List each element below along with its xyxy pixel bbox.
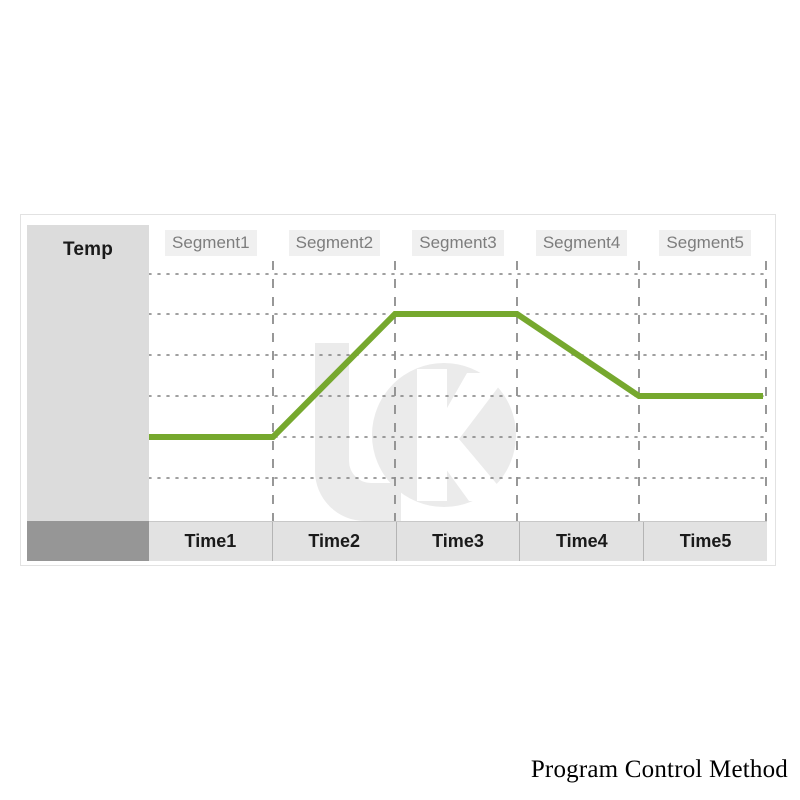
time-cell-2: Time2	[273, 522, 397, 561]
segment-dividers	[273, 261, 766, 521]
temp-panel-footer-block	[27, 521, 149, 561]
chart-canvas	[149, 225, 767, 521]
segment-cell-3: Segment3	[396, 225, 520, 261]
plot-area	[149, 225, 767, 521]
segment-badge-3: Segment3	[412, 230, 504, 257]
temp-axis-panel: Temp	[27, 225, 149, 521]
time-footer-row: Time1 Time2 Time3 Time4 Time5	[149, 521, 767, 561]
figure-caption: Program Control Method	[0, 756, 788, 784]
segment-header-row: Segment1 Segment2 Segment3 Segment4 Segm…	[149, 225, 767, 261]
time-cell-1: Time1	[149, 522, 273, 561]
segment-cell-2: Segment2	[273, 225, 397, 261]
temp-axis-label: Temp	[27, 239, 149, 261]
segment-cell-5: Segment5	[643, 225, 767, 261]
temperature-profile-line	[149, 314, 763, 437]
horizontal-gridlines	[149, 274, 767, 478]
segment-cell-1: Segment1	[149, 225, 273, 261]
segment-badge-5: Segment5	[659, 230, 751, 257]
time-cell-5: Time5	[644, 522, 767, 561]
segment-badge-2: Segment2	[289, 230, 381, 257]
segment-badge-1: Segment1	[165, 230, 257, 257]
segment-badge-4: Segment4	[536, 230, 628, 257]
time-cell-3: Time3	[397, 522, 521, 561]
segment-cell-4: Segment4	[520, 225, 644, 261]
time-cell-4: Time4	[520, 522, 644, 561]
program-control-chart: Temp	[20, 214, 776, 566]
